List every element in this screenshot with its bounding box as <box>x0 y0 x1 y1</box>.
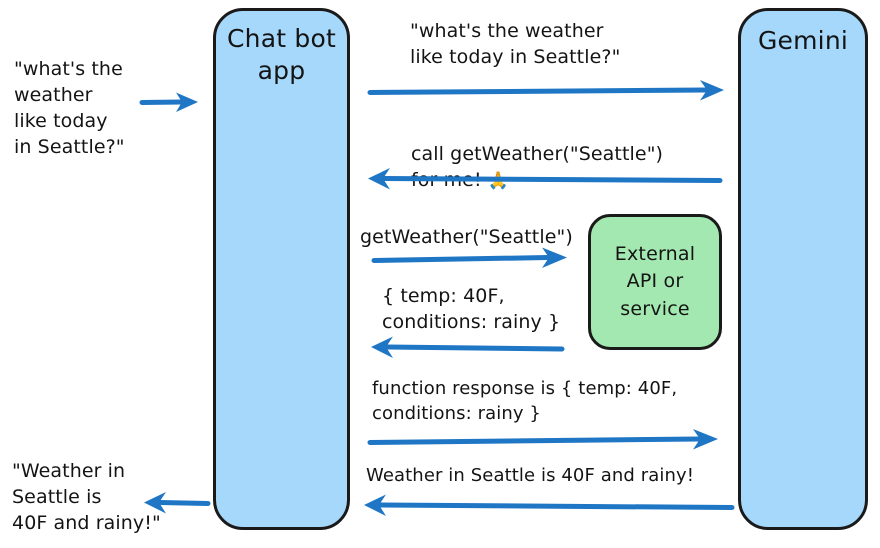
note-message-api-result: { temp: 40F, conditions: rainy } <box>382 283 560 335</box>
arrow-gemini-to-chatbot-final-answer <box>360 493 735 523</box>
arrow-external-api-to-chatbot <box>368 335 566 365</box>
note-message-get-weather-call: getWeather("Seattle") <box>360 224 573 250</box>
node-gemini[interactable]: Gemini <box>738 8 868 530</box>
note-message-function-call-request-text: call getWeather("Seattle") for me! <box>411 143 663 191</box>
node-external-api-or-service-label: External API or service <box>615 241 695 324</box>
node-gemini-label: Gemini <box>758 25 848 527</box>
diagram-canvas: Chat bot app Gemini External API or serv… <box>0 0 880 548</box>
note-user-answer: "Weather in Seattle is 40F and rainy!" <box>12 458 161 536</box>
node-chat-bot-app[interactable]: Chat bot app <box>213 8 350 530</box>
note-user-question: "what's the weather like today in Seattl… <box>14 56 125 160</box>
node-external-api-or-service[interactable]: External API or service <box>588 214 722 350</box>
arrow-chatbot-to-external-api <box>370 246 575 276</box>
folded-hands-icon: 🙏 <box>488 171 509 191</box>
arrow-chatbot-to-gemini-prompt <box>366 78 734 108</box>
node-chat-bot-app-label: Chat bot app <box>227 23 336 527</box>
note-message-function-call-request: call getWeather("Seattle") for me! 🙏 <box>411 115 663 193</box>
arrow-user-to-chatbot <box>138 88 208 118</box>
note-message-function-response: function response is { temp: 40F, condit… <box>372 377 677 426</box>
note-message-user-prompt-to-gemini: "what's the weather like today in Seattl… <box>410 18 620 70</box>
note-message-final-answer: Weather in Seattle is 40F and rainy! <box>366 464 694 489</box>
arrow-chatbot-to-gemini-function-response <box>366 428 726 458</box>
